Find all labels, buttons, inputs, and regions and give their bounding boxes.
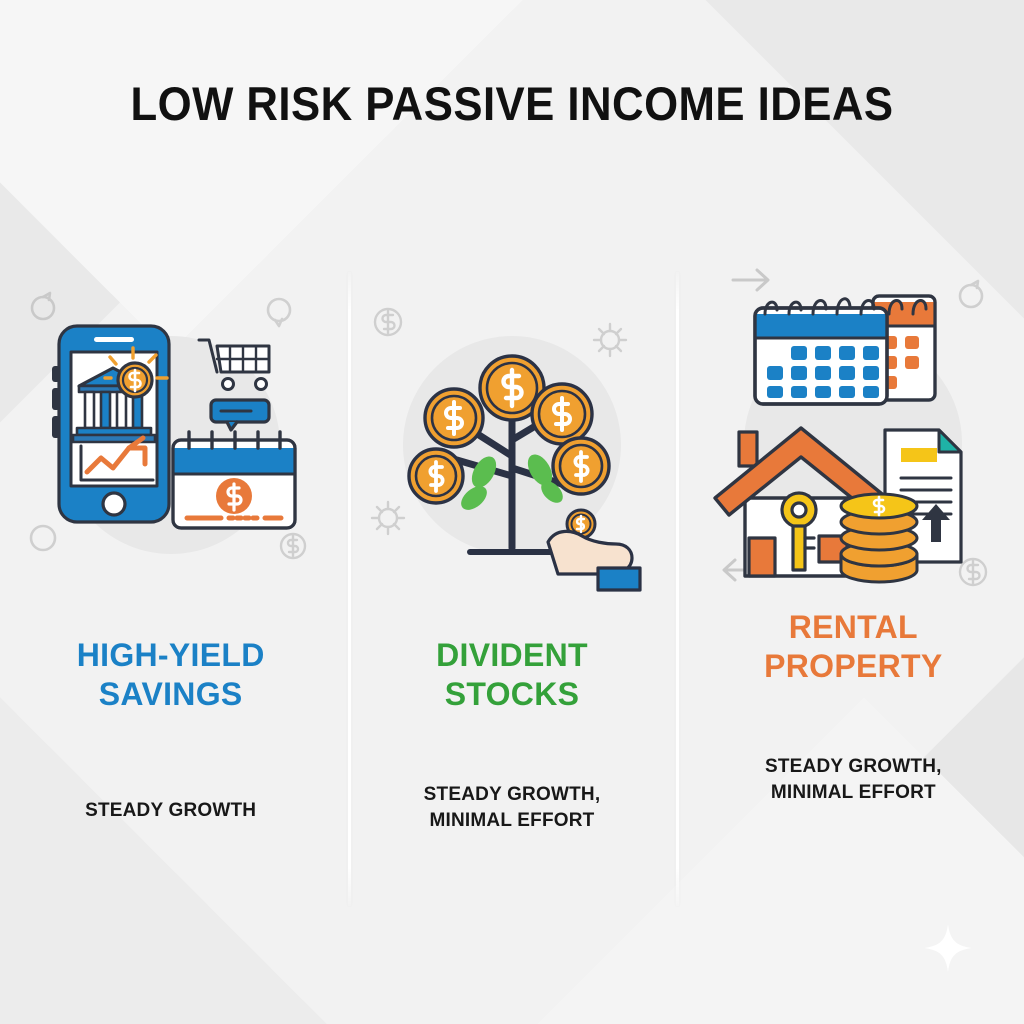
dollar-circle-icon xyxy=(281,534,305,558)
refresh-circle-icon xyxy=(32,293,54,319)
column-high-yield-savings[interactable]: HIGH-YIELD SAVINGS STEADY GROWTH xyxy=(0,270,341,920)
columns-container: HIGH-YIELD SAVINGS STEADY GROWTH xyxy=(0,270,1024,920)
gear-icon xyxy=(594,324,626,356)
money-tree-illustration xyxy=(362,280,662,610)
coin-stack-icon xyxy=(841,494,917,582)
column-rental-property[interactable]: RENTAL PROPERTY STEADY GROWTH, MINIMAL E… xyxy=(683,270,1024,920)
circle-outline-icon xyxy=(31,526,55,550)
column-caption-rental-property: STEADY GROWTH, MINIMAL EFFORT xyxy=(765,754,942,806)
smartphone-icon xyxy=(52,326,169,522)
column-label-rental-property: RENTAL PROPERTY xyxy=(764,608,942,686)
shopping-cart-icon xyxy=(199,340,269,390)
arrow-right-icon xyxy=(733,270,768,290)
column-caption-high-yield-savings: STEADY GROWTH xyxy=(85,798,256,824)
dollar-coin-icon xyxy=(532,384,592,444)
speech-circle-icon xyxy=(268,299,290,326)
payment-card-icon xyxy=(173,432,295,528)
page-title: LOW RISK PASSIVE INCOME IDEAS xyxy=(36,78,988,130)
mobile-banking-illustration xyxy=(21,280,321,610)
column-label-divident-stocks: DIVIDENT STOCKS xyxy=(436,636,588,714)
card-reader-icon xyxy=(211,400,269,430)
dollar-coin-icon xyxy=(409,449,463,503)
dollar-circle-icon xyxy=(960,559,986,585)
column-label-high-yield-savings: HIGH-YIELD SAVINGS xyxy=(77,636,265,714)
sparkle-icon xyxy=(920,920,976,976)
rental-property-illustration xyxy=(703,252,1003,582)
dollar-coin-icon xyxy=(425,389,483,447)
gear-icon xyxy=(372,502,404,534)
dollar-circle-icon xyxy=(375,309,401,335)
column-divident-stocks[interactable]: DIVIDENT STOCKS STEADY GROWTH, MINIMAL E… xyxy=(341,270,682,920)
refresh-circle-icon xyxy=(960,281,982,307)
infographic-canvas: LOW RISK PASSIVE INCOME IDEAS xyxy=(0,0,1024,1024)
column-caption-divident-stocks: STEADY GROWTH, MINIMAL EFFORT xyxy=(424,782,601,834)
dollar-coin-icon xyxy=(553,438,609,494)
open-hand-icon xyxy=(548,531,640,590)
